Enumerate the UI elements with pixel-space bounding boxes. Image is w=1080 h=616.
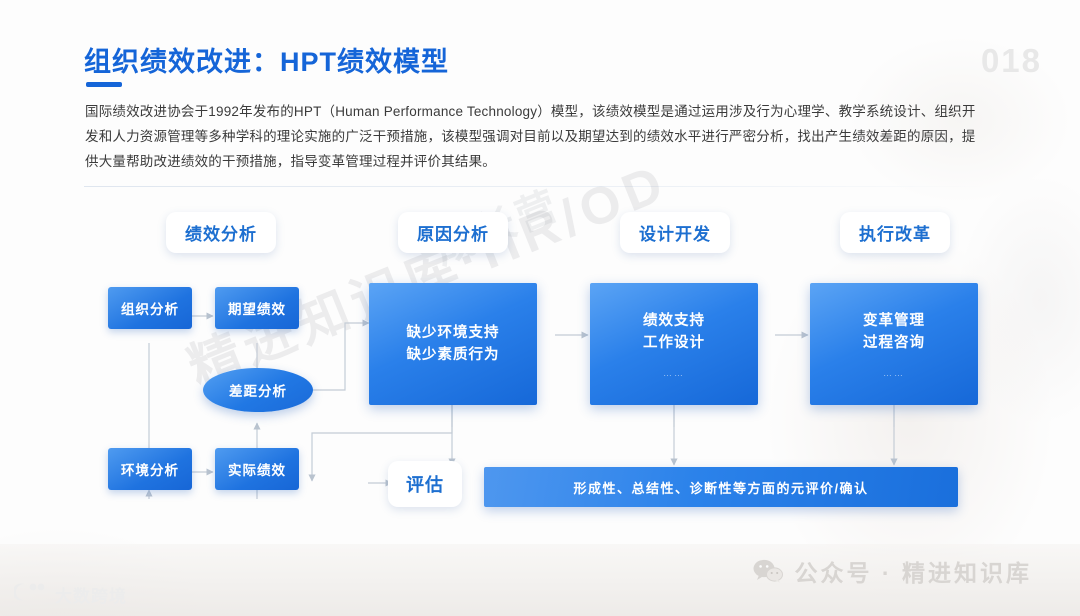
stage-pill-3-label: 设计开发: [639, 220, 711, 245]
panel-execute-dots: ……: [883, 368, 905, 378]
box-environment-analysis-label: 环境分析: [121, 459, 179, 479]
panel-execute-change[interactable]: 变革管理 过程咨询 ……: [810, 283, 978, 405]
evaluation-bar-label: 形成性、总结性、诊断性等方面的元评价/确认: [573, 478, 868, 497]
stage-pill-2-label: 原因分析: [417, 220, 489, 245]
box-environment-analysis[interactable]: 环境分析: [108, 448, 192, 490]
node-gap-analysis-label: 差距分析: [229, 380, 287, 400]
stage-pill-1[interactable]: 绩效分析: [166, 212, 276, 253]
corner-logo-text: 大数跨境: [55, 582, 127, 607]
panel-design-development[interactable]: 绩效支持 工作设计 ……: [590, 283, 758, 405]
panel-design-dots: ……: [663, 368, 685, 378]
page-number: 018: [981, 42, 1042, 80]
title-underline: [86, 82, 122, 87]
corner-logo-mark: [14, 581, 48, 608]
evaluation-pill[interactable]: 评估: [388, 461, 462, 507]
panel-cause-line1: 缺少环境支持: [407, 322, 500, 344]
page-title: 组织绩效改进：HPT绩效模型: [84, 40, 449, 79]
footer-brand: 公众号 · 精进知识库: [753, 554, 1032, 588]
hpt-diagram: 绩效分析 原因分析 设计开发 执行改革 组织分析 期望绩效 环境分析 实际绩效 …: [0, 195, 1080, 535]
panel-cause-line2: 缺少素质行为: [407, 344, 500, 366]
box-actual-performance-label: 实际绩效: [228, 459, 286, 479]
panel-execute-line2: 过程咨询: [863, 332, 925, 354]
corner-logo: 大数跨境: [14, 581, 127, 608]
evaluation-pill-label: 评估: [406, 471, 444, 497]
node-gap-analysis[interactable]: 差距分析: [203, 368, 313, 412]
stage-pill-4[interactable]: 执行改革: [840, 212, 950, 253]
stage-pill-4-label: 执行改革: [859, 220, 931, 245]
box-expected-performance-label: 期望绩效: [228, 298, 286, 318]
stage-pill-1-label: 绩效分析: [185, 220, 257, 245]
panel-design-line2: 工作设计: [643, 332, 705, 354]
header-divider: [84, 186, 984, 187]
panel-execute-line1: 变革管理: [863, 310, 925, 332]
body-paragraph: 国际绩效改进协会于1992年发布的HPT（Human Performance T…: [85, 99, 980, 174]
box-org-analysis[interactable]: 组织分析: [108, 287, 192, 329]
slide-canvas: 018 组织绩效改进：HPT绩效模型 国际绩效改进协会于1992年发布的HPT（…: [0, 0, 1080, 616]
box-actual-performance[interactable]: 实际绩效: [215, 448, 299, 490]
panel-cause-analysis[interactable]: 缺少环境支持 缺少素质行为: [369, 283, 537, 405]
panel-design-line1: 绩效支持: [643, 310, 705, 332]
box-expected-performance[interactable]: 期望绩效: [215, 287, 299, 329]
evaluation-bar[interactable]: 形成性、总结性、诊断性等方面的元评价/确认: [484, 467, 958, 507]
stage-pill-3[interactable]: 设计开发: [620, 212, 730, 253]
stage-pill-2[interactable]: 原因分析: [398, 212, 508, 253]
box-org-analysis-label: 组织分析: [121, 298, 179, 318]
footer-brand-text: 公众号 · 精进知识库: [795, 554, 1032, 588]
wechat-icon: [753, 559, 783, 583]
